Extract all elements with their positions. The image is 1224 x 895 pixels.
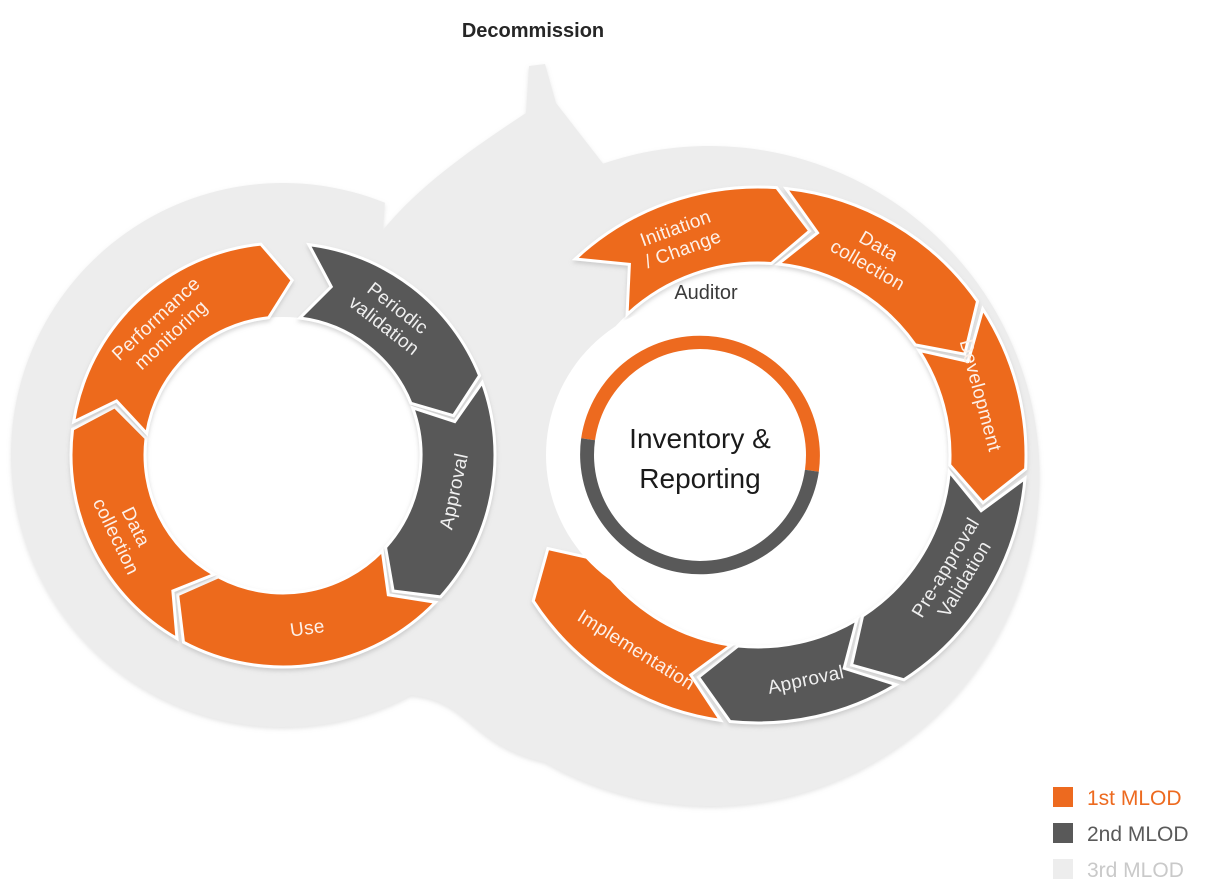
lifecycle-diagram: PeriodicvalidationApprovalUseDatacollect… [0,0,1224,895]
core-title-line2: Reporting [639,463,760,494]
legend: 1st MLOD2nd MLOD3rd MLOD [1053,787,1189,882]
core-title-line1: Inventory & [629,423,771,454]
legend-label: 1st MLOD [1087,787,1182,810]
legend-label: 3rd MLOD [1087,859,1184,882]
core-well [594,349,806,561]
auditor-label: Auditor [674,282,738,304]
legend-swatch [1053,823,1073,843]
ring-inventory-core [546,301,854,609]
legend-swatch [1053,859,1073,879]
legend-swatch [1053,787,1073,807]
decommission-label: Decommission [462,20,604,42]
diagram-canvas: PeriodicvalidationApprovalUseDatacollect… [0,0,1224,895]
decommission-callout: Decommission [462,20,604,42]
legend-label: 2nd MLOD [1087,823,1189,846]
